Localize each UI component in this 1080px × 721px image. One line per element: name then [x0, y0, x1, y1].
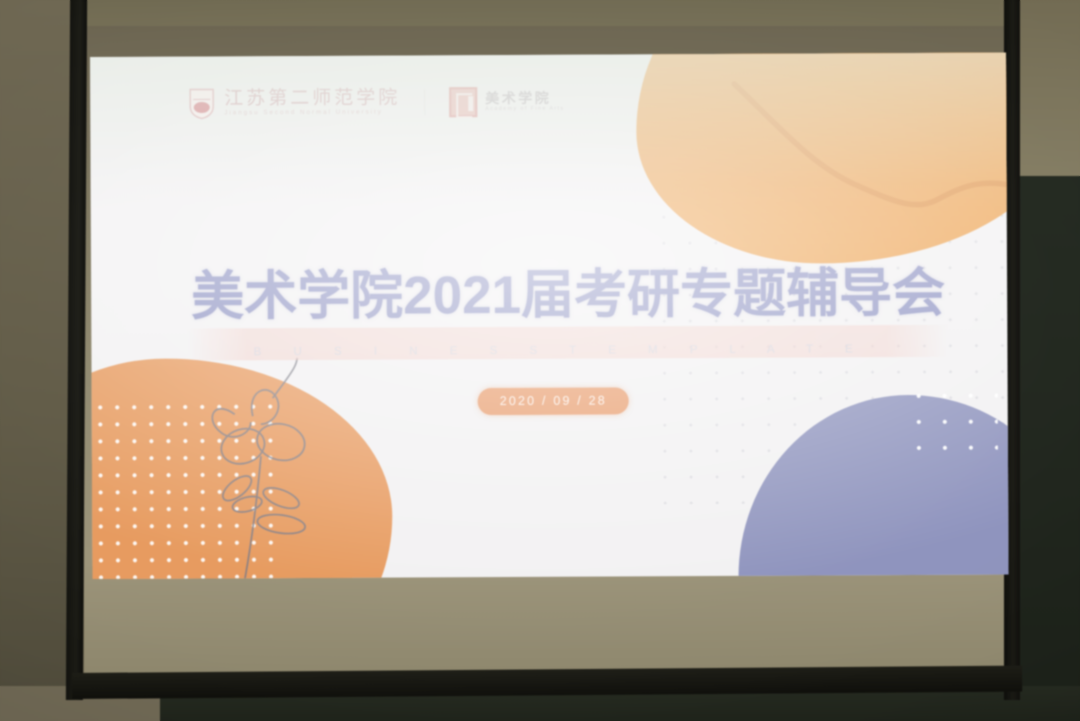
curved-line-stroke-icon — [716, 53, 1009, 284]
slide-title: 美术学院2021届考研专题辅导会 — [191, 266, 931, 325]
university-logo-text: 江苏第二师范学院 Jiangsu Second Normal Universit… — [224, 88, 400, 116]
flower-line-art-icon — [176, 358, 347, 579]
academy-name-en: Academy of Fine Arts — [485, 106, 564, 112]
photo-scene: 江苏第二师范学院 Jiangsu Second Normal Universit… — [0, 0, 1080, 721]
academy-logo-text: 美术学院 Academy of Fine Arts — [485, 90, 564, 112]
university-name-cn: 江苏第二师范学院 — [224, 88, 400, 108]
academy-name-cn: 美术学院 — [485, 90, 564, 104]
white-dot-grid-bottom-right — [906, 383, 998, 455]
date-badge: 2020 / 09 / 28 — [478, 387, 629, 415]
red-square-seal-icon — [449, 87, 477, 117]
academy-logo: 美术学院 Academy of Fine Arts — [449, 86, 564, 117]
projected-slide: 江苏第二师范学院 Jiangsu Second Normal Universit… — [90, 53, 1009, 579]
logo-row: 江苏第二师范学院 Jiangsu Second Normal Universit… — [188, 85, 564, 120]
wall-left — [0, 0, 72, 721]
university-name-en: Jiangsu Second Normal University — [224, 109, 400, 116]
university-logo: 江苏第二师范学院 Jiangsu Second Normal Universit… — [188, 85, 400, 119]
logo-divider — [424, 89, 425, 115]
shield-seal-icon — [188, 86, 215, 119]
